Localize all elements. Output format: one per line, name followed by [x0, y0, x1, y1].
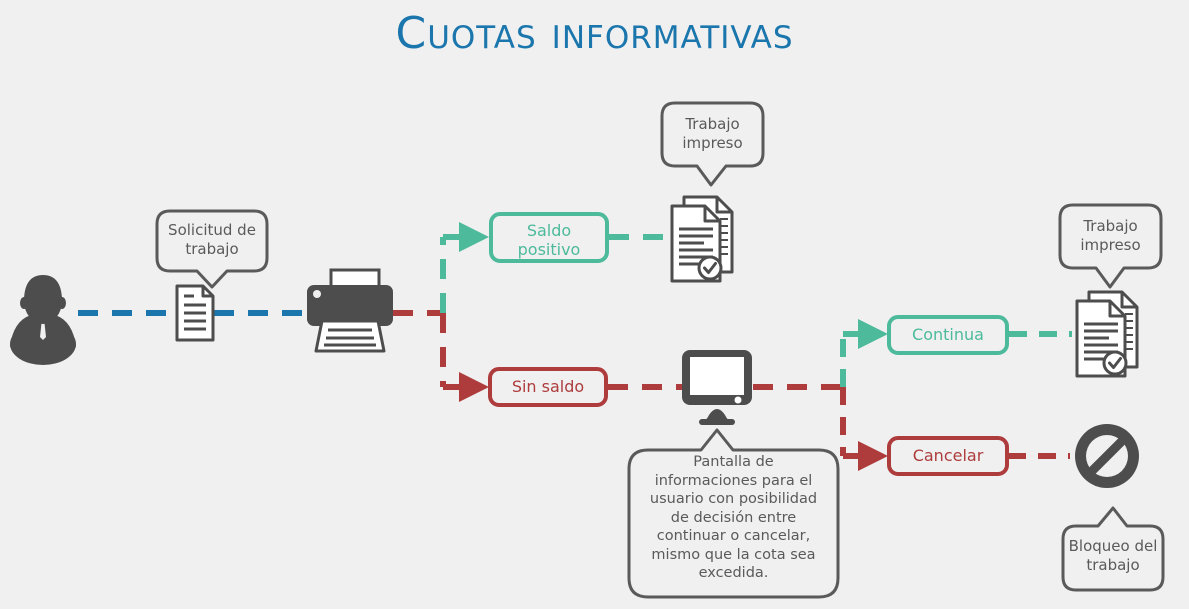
bubble-bloqueo-trabajo: [1063, 508, 1163, 590]
decision-label-saldo-positivo: Saldo positivo: [491, 221, 607, 259]
prohibition-icon: [1075, 424, 1139, 488]
stacked-documents-check-icon: [1077, 292, 1137, 376]
bubble-solicitud-trabajo: [157, 211, 267, 287]
diagram-graphics: [0, 0, 1189, 609]
monitor-icon: [682, 350, 752, 425]
bubble-trabajo-impreso-top: [662, 103, 763, 185]
decision-label-continua: Continua: [889, 325, 1007, 344]
bubble-pantalla-informaciones: [629, 430, 838, 597]
decision-label-cancelar: Cancelar: [889, 446, 1007, 465]
businessman-avatar-icon: [10, 275, 76, 365]
document-icon: [177, 286, 213, 340]
printer-icon: [307, 270, 393, 351]
stacked-documents-check-icon: [672, 197, 732, 281]
decision-label-sin-saldo: Sin saldo: [490, 377, 606, 396]
diagram-canvas: Cuotas informativas: [0, 0, 1189, 609]
bubble-trabajo-impreso-right: [1060, 205, 1161, 287]
